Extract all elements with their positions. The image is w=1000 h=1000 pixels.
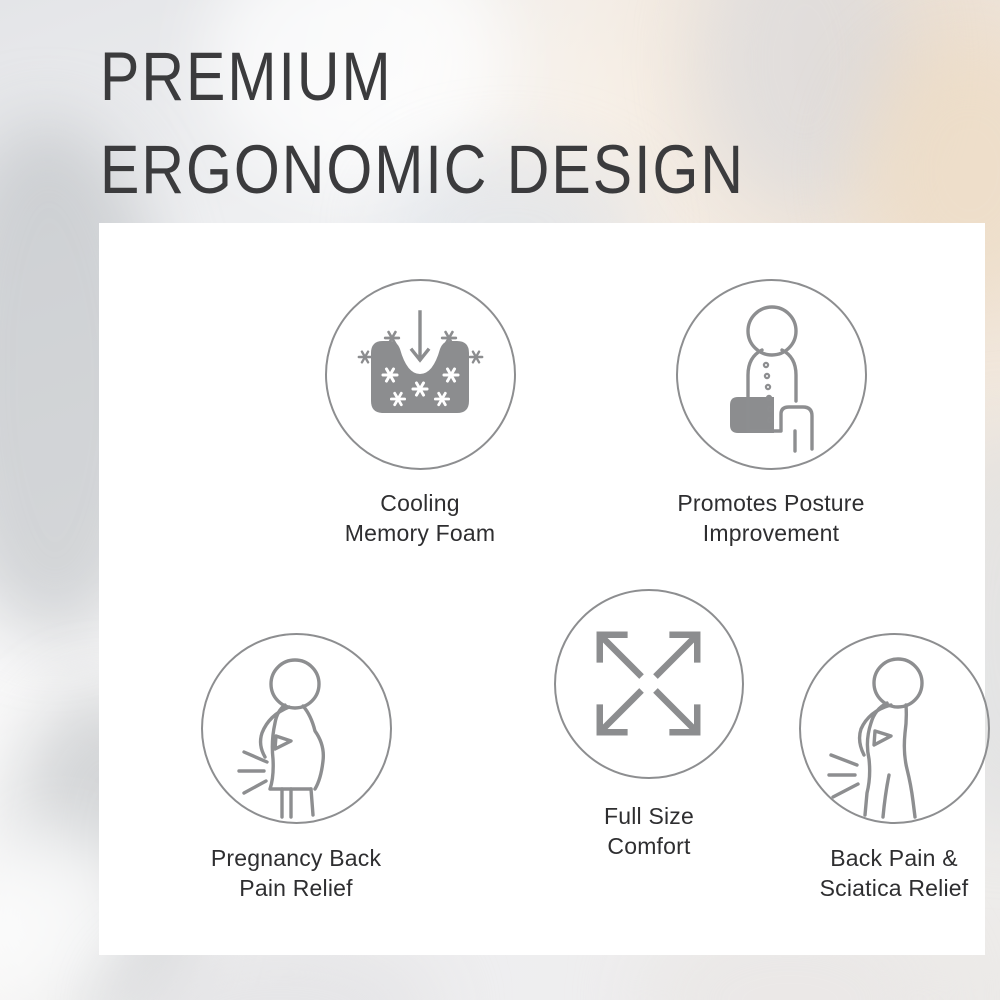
title-line-1: PREMIUM bbox=[100, 36, 860, 117]
caption-line-1: Cooling bbox=[275, 488, 565, 518]
feature-caption: Back Pain & Sciatica Relief bbox=[744, 843, 1000, 903]
feature-caption: Cooling Memory Foam bbox=[275, 488, 565, 548]
caption-line-2: Improvement bbox=[626, 518, 916, 548]
feature-caption: Promotes Posture Improvement bbox=[626, 488, 916, 548]
feature-pregnancy-back-pain: Pregnancy Back Pain Relief bbox=[146, 633, 446, 903]
pregnancy-back-pain-icon bbox=[201, 633, 392, 824]
caption-line-2: Sciatica Relief bbox=[744, 873, 1000, 903]
page-title: PREMIUM ERGONOMIC DESIGN bbox=[100, 36, 860, 199]
caption-line-1: Promotes Posture bbox=[626, 488, 916, 518]
feature-caption: Pregnancy Back Pain Relief bbox=[146, 843, 446, 903]
caption-line-2: Pain Relief bbox=[146, 873, 446, 903]
feature-promotes-posture: Promotes Posture Improvement bbox=[626, 279, 916, 548]
seated-posture-icon bbox=[676, 279, 867, 470]
back-pain-sciatica-icon bbox=[799, 633, 990, 824]
expand-arrows-icon bbox=[554, 589, 744, 779]
cooling-memory-foam-icon bbox=[325, 279, 516, 470]
feature-card: Cooling Memory Foam bbox=[99, 223, 985, 955]
feature-back-pain-sciatica: Back Pain & Sciatica Relief bbox=[744, 633, 1000, 903]
caption-line-1: Back Pain & bbox=[744, 843, 1000, 873]
caption-line-2: Memory Foam bbox=[275, 518, 565, 548]
infographic-stage: PREMIUM ERGONOMIC DESIGN bbox=[0, 0, 1000, 1000]
feature-cooling-memory-foam: Cooling Memory Foam bbox=[275, 279, 565, 548]
title-line-2: ERGONOMIC DESIGN bbox=[100, 129, 860, 210]
caption-line-1: Pregnancy Back bbox=[146, 843, 446, 873]
